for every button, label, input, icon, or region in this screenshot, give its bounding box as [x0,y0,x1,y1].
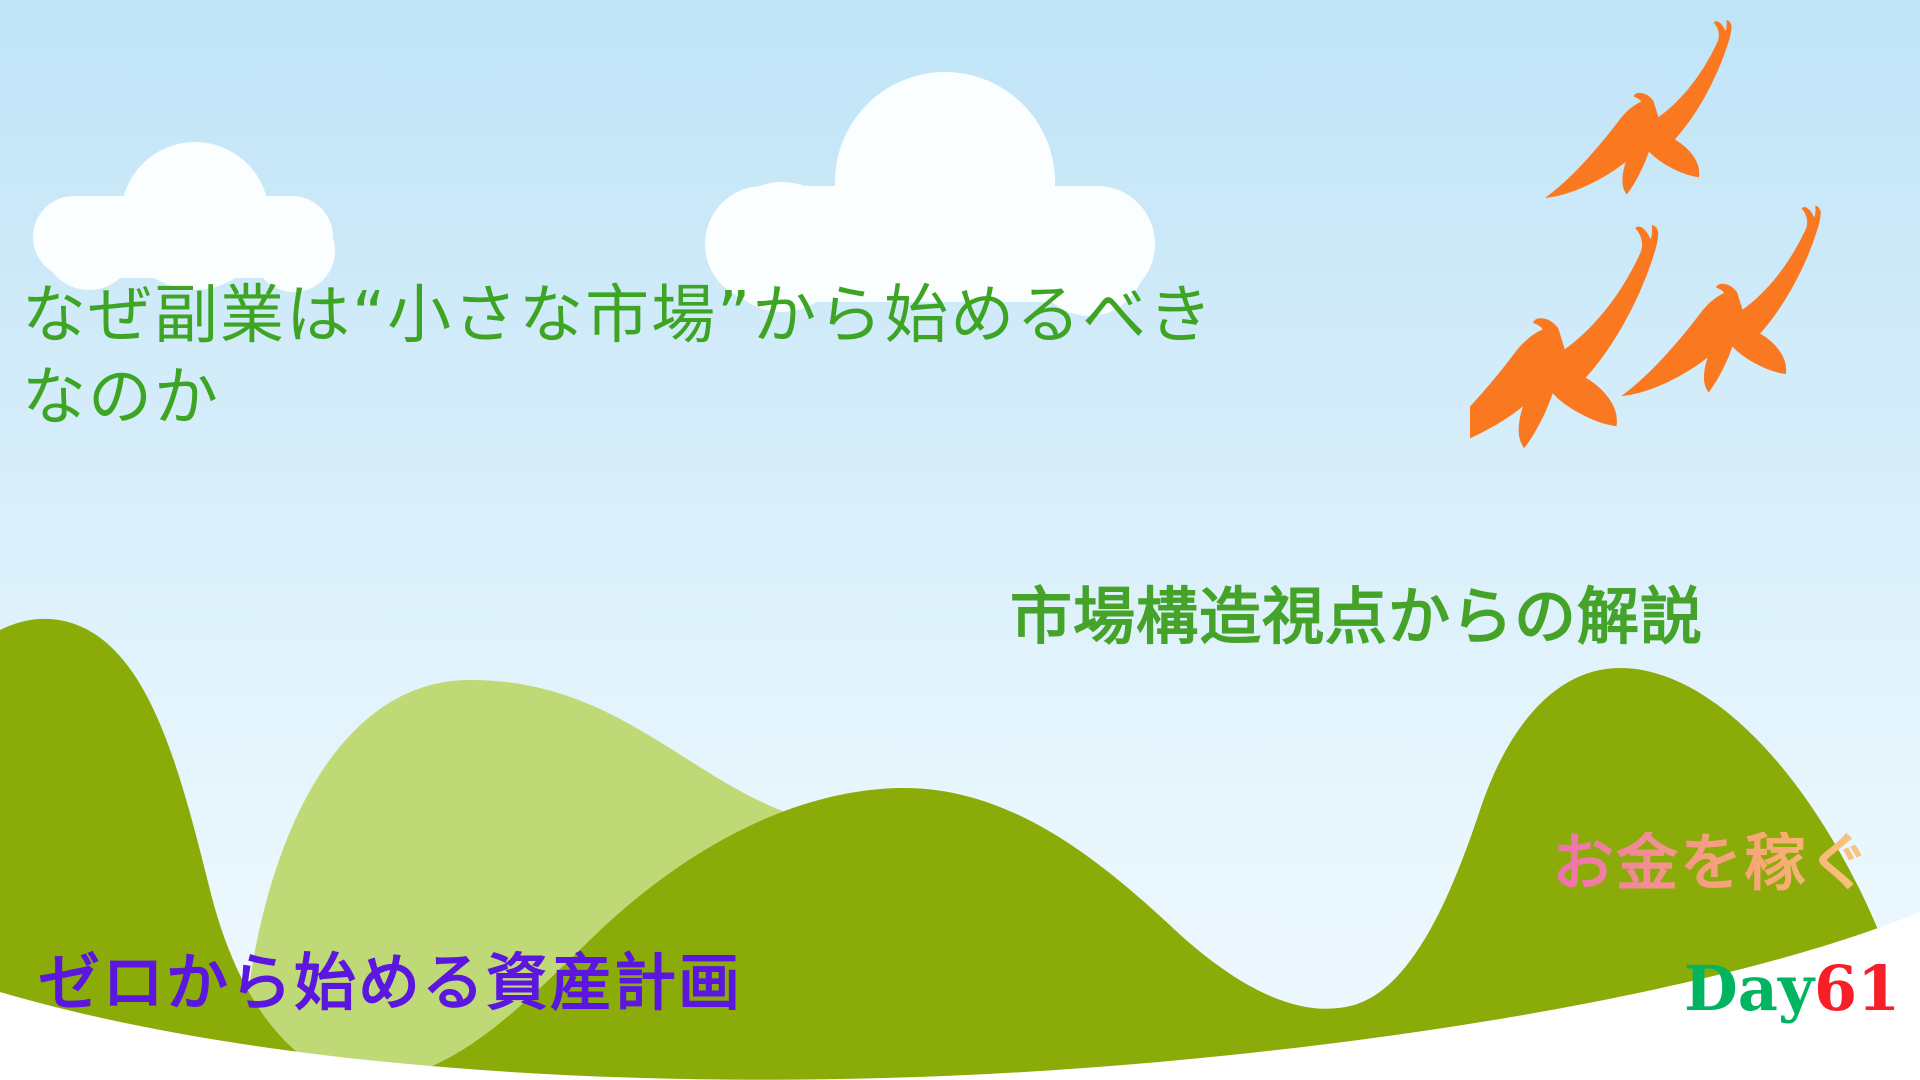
bird-top-icon [1545,20,1732,198]
day-number: 61 [1814,952,1900,1025]
birds-group [1470,20,1920,490]
category-badge: お金を稼ぐ [1552,832,1872,894]
page-subtitle: 市場構造視点からの解説 [1010,586,1703,648]
cloud-left-puff-1 [121,142,269,290]
cloud-left-icon [25,128,345,278]
cloud-middle-icon [695,62,1165,302]
page-title: なぜ副業は“小さな市場”から始めるべき なのか [22,276,1322,440]
thumbnail-canvas: なぜ副業は“小さな市場”から始めるべき なのか 市場構造視点からの解説 ゼロから… [0,0,1920,1080]
day-word: Day [1684,952,1814,1025]
bird-right-icon [1621,206,1821,396]
day-counter-badge: Day61 [1684,958,1900,1020]
bird-bottom-icon [1470,225,1658,453]
cloud-middle-puff-1 [835,72,1055,292]
series-label: ゼロから始める資産計画 [38,952,742,1014]
